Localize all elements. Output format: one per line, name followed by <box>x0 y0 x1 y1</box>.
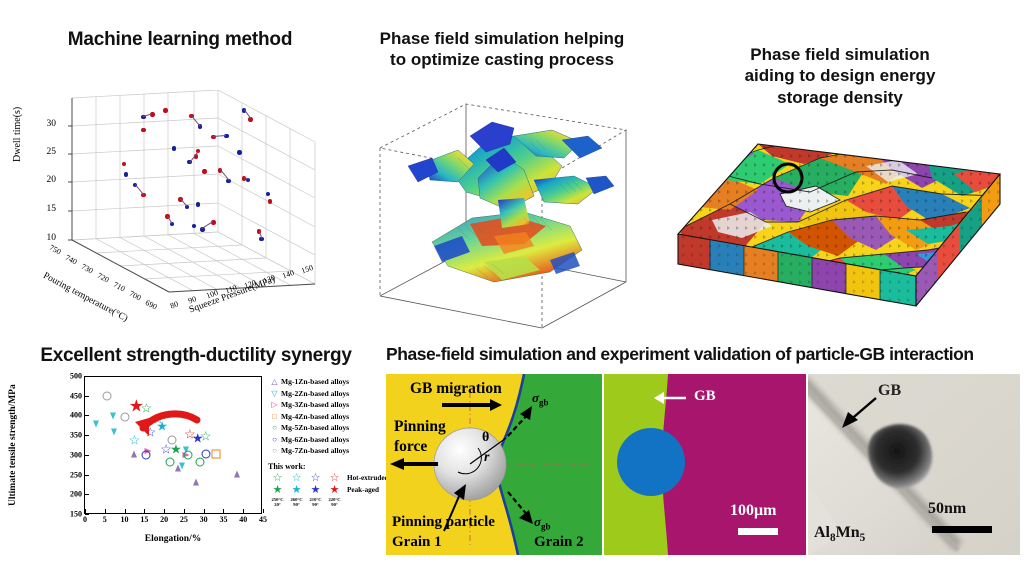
ml-panel-title: Machine learning method <box>10 28 350 52</box>
sd-legend-item: ○Mg-5Zn-based alloys <box>268 422 349 434</box>
gs-title-line1: Phase field simulation <box>660 44 1020 65</box>
gs-panel-title: Phase field simulation aiding to design … <box>660 44 1020 108</box>
gb-migration-label: GB migration <box>410 380 502 398</box>
this-work-row: ★★★★Peak-aged <box>268 484 389 496</box>
this-work-star: ☆ <box>268 473 287 484</box>
sd-xtick: 45 <box>259 515 267 524</box>
ml-data-point <box>124 172 128 176</box>
sd-xtick: 0 <box>83 515 87 524</box>
gs-title-line3: storage density <box>660 87 1020 108</box>
scale-label-50nm: 50nm <box>928 500 966 518</box>
sd-plot-area: 150200250300350400450500 051015202530354… <box>84 376 262 514</box>
pinning-force-label-1: Pinning <box>394 418 446 436</box>
pf-title-line2: to optimize casting process <box>352 49 652 70</box>
sd-legend-item: ○Mg-6Zn-based alloys <box>268 434 349 446</box>
this-work-star: ★ <box>287 485 306 496</box>
this-work-label: This work: <box>268 462 389 471</box>
sd-legend-marker: □ <box>268 412 281 421</box>
sd-legend-item: □Mg-4Zn-based alloys <box>268 411 349 423</box>
this-work-condition: 260°C90° <box>287 497 306 508</box>
sd-legend: △Mg-1Zn-based alloys▽Mg-2Zn-based alloys… <box>268 376 349 457</box>
scale-label-100um: 100μm <box>730 502 776 520</box>
sd-legend-marker: ○ <box>268 446 281 455</box>
sd-legend-label: Mg-3Zn-based alloys <box>281 400 349 409</box>
sd-xtick: 20 <box>160 515 168 524</box>
sd-legend-marker: ○ <box>268 435 281 444</box>
sd-ytick: 200 <box>70 490 82 499</box>
sd-ytick: 250 <box>70 470 82 479</box>
strength-ductility-panel: Excellent strength-ductility synergy 150… <box>6 344 386 584</box>
sd-xaxis-label: Elongation/% <box>84 534 262 544</box>
sd-ytick: 150 <box>70 510 82 519</box>
this-work-row-label: Hot-extruded <box>347 474 389 482</box>
sd-ytick: 500 <box>70 372 82 381</box>
ml-ztick: 25 <box>32 147 56 157</box>
sd-legend-label: Mg-4Zn-based alloys <box>281 412 349 421</box>
ml-zaxis-label: Dwell time(s) <box>12 107 23 162</box>
ml-axes-svg <box>28 90 338 335</box>
gb-label-tem: GB <box>878 382 901 400</box>
sd-legend-label: Mg-5Zn-based alloys <box>281 423 349 432</box>
pf-simulation-image <box>374 100 632 344</box>
phase-label-al8mn5: Al8Mn5 <box>814 524 865 544</box>
sd-xtick: 35 <box>219 515 227 524</box>
gb-label-sim: GB <box>694 388 716 405</box>
sd-legend-item: ▽Mg-2Zn-based alloys <box>268 388 349 400</box>
this-work-star: ★ <box>325 485 344 496</box>
sd-xtick-mark <box>263 509 264 513</box>
radius-label: r <box>484 450 489 466</box>
sd-legend-item: △Mg-1Zn-based alloys <box>268 376 349 388</box>
theta-label: θ <box>482 430 489 446</box>
this-work-star: ☆ <box>325 473 344 484</box>
sd-xtick: 40 <box>239 515 247 524</box>
sd-xtick: 10 <box>121 515 129 524</box>
gs-slab-svg <box>670 134 1010 334</box>
sd-xtick: 25 <box>180 515 188 524</box>
sd-legend-item: ○Mg-7Zn-based alloys <box>268 445 349 457</box>
pinning-force-label-2: force <box>394 438 427 456</box>
ml-data-point <box>172 146 176 150</box>
this-work-condition: 250°C20° <box>268 497 287 508</box>
sd-legend-label: Mg-1Zn-based alloys <box>281 377 349 386</box>
pf-panel-title: Phase field simulation helping to optimi… <box>352 28 652 71</box>
this-work-row-label: Peak-aged <box>347 486 379 494</box>
sigma-gb-bottom: σgb <box>534 514 551 532</box>
sd-legend-marker: △ <box>268 377 281 386</box>
sd-legend-marker: ▽ <box>268 389 281 398</box>
sd-this-work-legend: This work: ☆☆☆☆Hot-extruded★★★★Peak-aged… <box>268 462 389 508</box>
ml-ztick: 15 <box>32 204 56 214</box>
pf-title-line1: Phase field simulation helping <box>352 28 652 49</box>
sd-legend-marker: ▷ <box>268 400 281 409</box>
this-work-star: ★ <box>268 485 287 496</box>
phase-field-casting-panel: Phase field simulation helping to optimi… <box>352 28 652 348</box>
sd-ytick: 300 <box>70 450 82 459</box>
pg-image-row: GB migration Pinning force θ r σgb σgb P… <box>386 374 1020 555</box>
pg-panel-title: Phase-field simulation and experiment va… <box>386 344 1020 366</box>
gs-simulation-image <box>670 134 1010 334</box>
this-work-star: ☆ <box>287 473 306 484</box>
machine-learning-panel: Machine learning method <box>10 28 350 338</box>
gs-title-line2: aiding to design energy <box>660 65 1020 86</box>
sd-ytick: 350 <box>70 431 82 440</box>
grain2-label: Grain 2 <box>534 534 584 551</box>
sd-yaxis-label: Ultimate tensile strength/MPa <box>8 384 18 506</box>
sd-xtick: 15 <box>140 515 148 524</box>
pinning-particle-label: Pinning particle <box>392 514 495 531</box>
ml-ztick: 20 <box>32 175 56 185</box>
particle-gb-panel: Phase-field simulation and experiment va… <box>386 344 1020 584</box>
pinning-schematic: GB migration Pinning force θ r σgb σgb P… <box>386 374 602 555</box>
this-work-row: ☆☆☆☆Hot-extruded <box>268 472 389 484</box>
ml-data-point <box>163 108 167 112</box>
ml-ztick: 30 <box>32 119 56 129</box>
this-work-condition: 220°C90° <box>325 497 344 508</box>
ml-data-point <box>268 199 272 203</box>
sd-ytick: 400 <box>70 411 82 420</box>
sd-panel-title: Excellent strength-ductility synergy <box>6 344 386 368</box>
pf-dendrite-svg <box>374 100 632 344</box>
sd-ytick: 450 <box>70 391 82 400</box>
ml-3d-scatter-plot: 10 15 20 25 30 Dwell time(s) 750 740 730… <box>28 90 338 335</box>
ml-ztick: 10 <box>32 233 56 243</box>
sd-xtick: 5 <box>103 515 107 524</box>
ml-data-point <box>141 128 145 132</box>
this-work-star: ☆ <box>306 473 325 484</box>
this-work-star: ★ <box>306 485 325 496</box>
ml-data-point <box>196 202 200 206</box>
grain-structure-panel: Phase field simulation aiding to design … <box>660 44 1020 344</box>
sd-legend-label: Mg-6Zn-based alloys <box>281 435 349 444</box>
sd-legend-item: ▷Mg-3Zn-based alloys <box>268 399 349 411</box>
grain1-label: Grain 1 <box>392 534 442 551</box>
this-work-condition: 210°C90° <box>306 497 325 508</box>
sigma-gb-top: σgb <box>532 390 549 408</box>
sd-legend-label: Mg-7Zn-based alloys <box>281 446 349 455</box>
sd-annotation-arrow <box>85 376 263 514</box>
ml-data-point <box>237 150 241 154</box>
sd-legend-label: Mg-2Zn-based alloys <box>281 389 349 398</box>
sd-legend-marker: ○ <box>268 423 281 432</box>
phase-field-result-image: GB 100μm <box>604 374 806 555</box>
sd-xtick: 30 <box>200 515 208 524</box>
tem-image: GB 50nm Al8Mn5 <box>808 374 1020 555</box>
ml-data-point <box>202 169 206 173</box>
